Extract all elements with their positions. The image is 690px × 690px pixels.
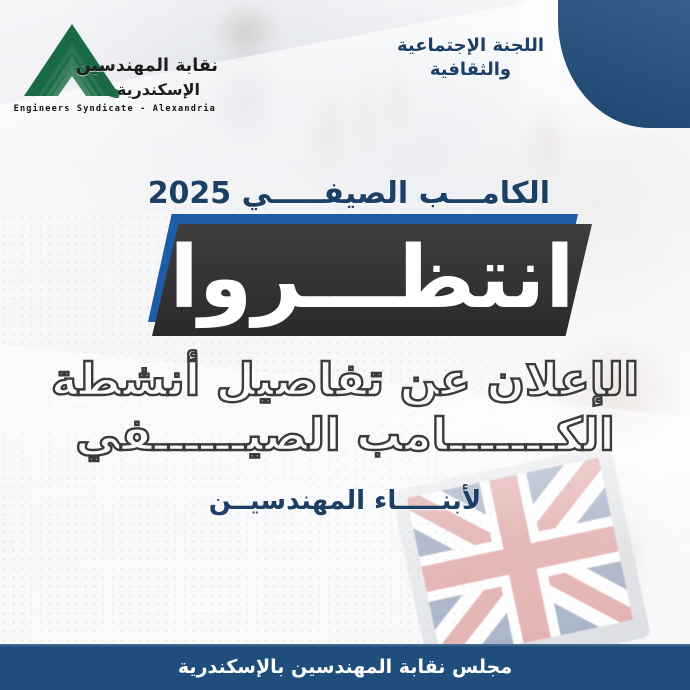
logo-english-line: Engineers Syndicate - Alexandria (14, 104, 216, 114)
headline-kicker: الكامـــب الصيفـــــي 2025 (148, 176, 550, 211)
audience-subtitle: لأبنـــــاء المهندسيــن (46, 486, 644, 516)
committee-label: اللجنة الإجتماعية والثقافية (397, 34, 544, 83)
committee-line-2: والثقافية (397, 58, 544, 82)
announcement-text: الإعلان عن تفاصيل أنشطة الكـــــــامب ال… (46, 356, 644, 459)
committee-line-1: اللجنة الإجتماعية (397, 34, 544, 58)
banner-black-plate: انتظـــروا (152, 224, 592, 336)
logo-arabic-line-1: نقابة المهندسين (76, 56, 218, 76)
poster-canvas: نقابة المهندسين الإسكندرية Engineers Syn… (0, 0, 690, 690)
announcement-line-2: الكـــــــامب الصيــــــفي (46, 411, 644, 460)
announcement-line-1: الإعلان عن تفاصيل أنشطة (46, 356, 644, 405)
syndicate-logo: نقابة المهندسين الإسكندرية Engineers Syn… (22, 22, 218, 126)
headline-banner: انتظـــروا (0, 214, 690, 334)
logo-arabic-line-2: الإسكندرية (117, 80, 200, 99)
banner-headline-word: انتظـــروا (152, 224, 592, 336)
footer-text: مجلس نقابة المهندسين بالإسكندرية (178, 656, 512, 678)
footer-bar: مجلس نقابة المهندسين بالإسكندرية (0, 644, 690, 690)
